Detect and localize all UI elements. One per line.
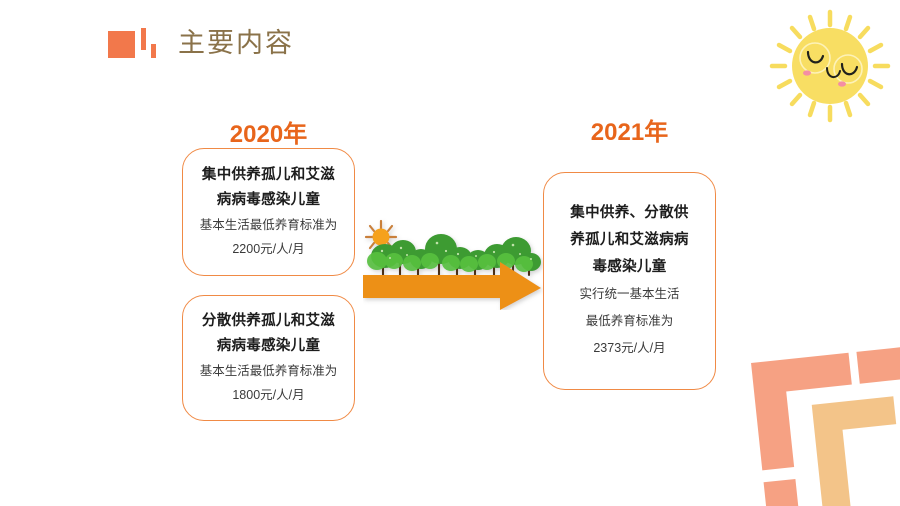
bar-chart-mark-icon	[108, 28, 156, 58]
card-left-bottom-heading-line2: 病病毒感染儿童	[217, 334, 321, 359]
mark-bar-small	[151, 44, 156, 58]
card-right-body-line3: 2373元/人/月	[593, 335, 665, 362]
year-label-left: 2020年	[182, 114, 355, 149]
sun-blush-left	[803, 70, 811, 75]
tree-cluster-icon	[367, 234, 541, 275]
page-title: 主要内容	[178, 28, 294, 58]
card-right-heading-line1: 集中供养、分散供	[570, 200, 688, 227]
card-left-top-heading-line2: 病病毒感染儿童	[217, 188, 321, 213]
card-left-top-heading-line1: 集中供养孤儿和艾滋	[202, 163, 335, 188]
card-left-top-body-line2: 2200元/人/月	[232, 237, 304, 261]
right-arrow-with-trees-icon	[363, 218, 543, 310]
card-left-top[interactable]: 集中供养孤儿和艾滋 病病毒感染儿童 基本生活最低养育标准为 2200元/人/月	[182, 148, 355, 276]
sun-blush-right	[838, 81, 846, 86]
card-left-bottom-heading-line1: 分散供养孤儿和艾滋	[202, 309, 335, 334]
bracket-inner-tan	[812, 396, 900, 506]
card-right[interactable]: 集中供养、分散供 养孤儿和艾滋病病 毒感染儿童 实行统一基本生活 最低养育标准为…	[543, 172, 716, 390]
card-left-bottom-body-line1: 基本生活最低养育标准为	[200, 359, 338, 383]
card-right-heading-line3: 毒感染儿童	[593, 254, 667, 281]
mark-bar-large	[108, 31, 135, 58]
card-right-body-line1: 实行统一基本生活	[579, 281, 679, 308]
card-right-heading-line2: 养孤儿和艾滋病病	[570, 227, 688, 254]
card-right-body-line2: 最低养育标准为	[586, 308, 674, 335]
slide-header: 主要内容	[108, 28, 294, 58]
card-left-top-body-line1: 基本生活最低养育标准为	[200, 213, 338, 237]
card-left-bottom[interactable]: 分散供养孤儿和艾滋 病病毒感染儿童 基本生活最低养育标准为 1800元/人/月	[182, 295, 355, 421]
mark-bar-medium	[141, 28, 146, 50]
slide: 主要内容 2020年 2021年 集中供养孤儿和艾滋 病病毒感染儿童 基本生活最…	[0, 0, 900, 506]
smiling-sun-icon	[762, 6, 898, 130]
year-label-right: 2021年	[543, 112, 716, 147]
rotated-bracket-corner-icon	[736, 336, 900, 506]
card-left-bottom-body-line2: 1800元/人/月	[232, 383, 304, 407]
